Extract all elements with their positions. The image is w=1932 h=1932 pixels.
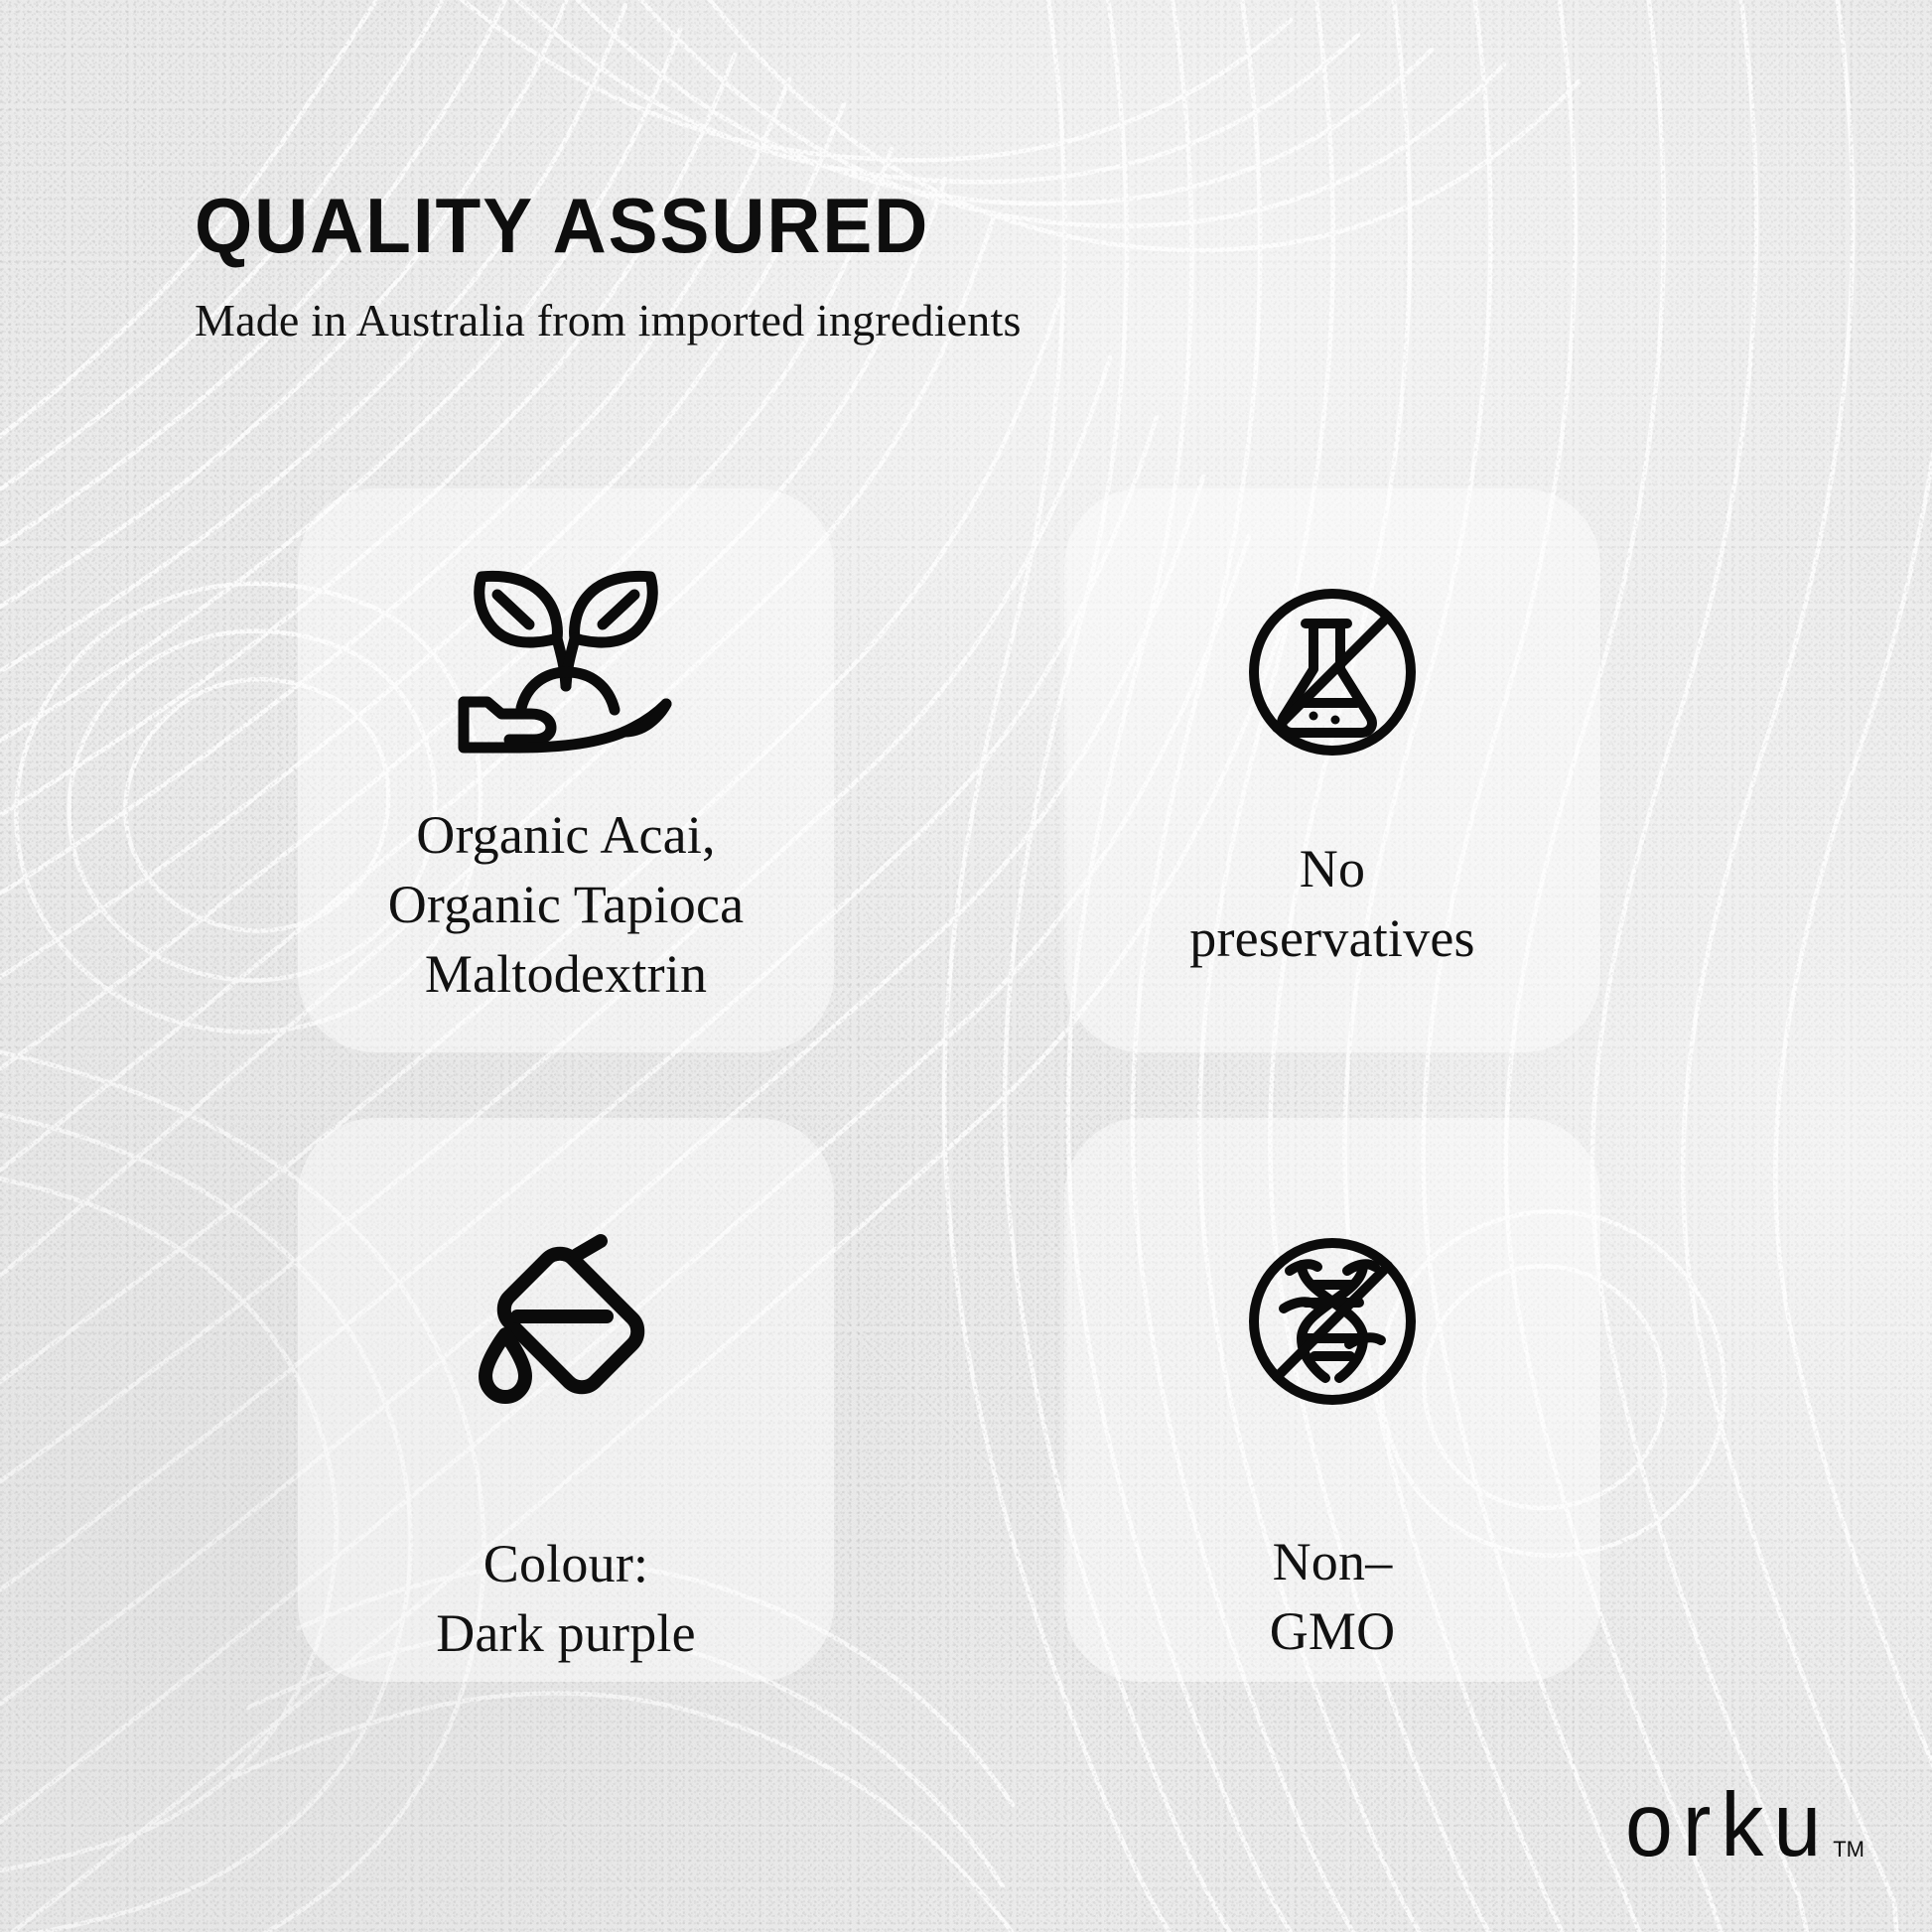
feature-card-ingredients: Organic Acai,Organic TapiocaMaltodextrin (298, 488, 834, 1052)
feature-card-non-gmo: Non–GMO (1064, 1118, 1600, 1682)
feature-card-label: Non–GMO (1064, 1527, 1600, 1666)
page-subtitle: Made in Australia from imported ingredie… (195, 294, 1585, 346)
feature-card-label: Organic Acai,Organic TapiocaMaltodextrin (298, 800, 834, 1010)
plant-in-hand-icon (447, 546, 685, 774)
feature-card-grid: Organic Acai,Organic TapiocaMaltodextrin (298, 488, 1648, 1682)
paint-bucket-icon (447, 1213, 685, 1442)
trademark-symbol: TM (1833, 1837, 1864, 1863)
no-preservatives-flask-icon (1213, 558, 1451, 786)
feature-card-no-preservatives: Nopreservatives (1064, 488, 1600, 1052)
header: QUALITY ASSURED Made in Australia from i… (195, 187, 1585, 346)
no-gmo-dna-icon (1213, 1207, 1451, 1436)
brand-logo: orku TM (1625, 1785, 1864, 1870)
feature-card-label: Nopreservatives (1064, 834, 1600, 973)
feature-card-label: Colour:Dark purple (298, 1529, 834, 1668)
feature-card-colour: Colour:Dark purple (298, 1118, 834, 1682)
brand-wordmark: orku (1625, 1780, 1831, 1870)
page-title: QUALITY ASSURED (195, 187, 1529, 264)
